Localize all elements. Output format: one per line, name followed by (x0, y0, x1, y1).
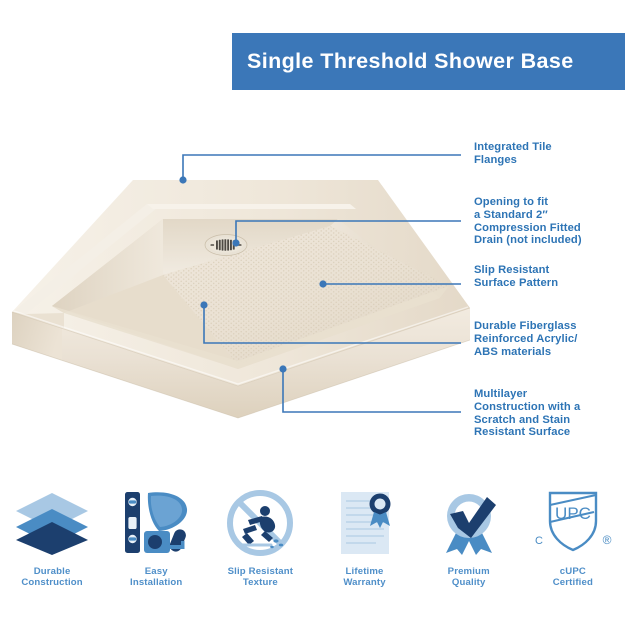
check-rosette-icon (426, 487, 512, 559)
product-image (0, 150, 470, 420)
feature-label-premium-quality: Premium Quality (448, 566, 490, 589)
stacked-layers-icon (9, 487, 95, 559)
upc-left-mark: C (535, 535, 543, 547)
feature-label-durable-construction: Durable Construction (21, 566, 83, 589)
feature-lifetime-warranty: Lifetime Warranty (315, 487, 415, 589)
callout-integrated-tile-flanges: Integrated Tile Flanges (474, 141, 552, 167)
level-trowel-tape-icon (113, 487, 199, 559)
upc-shield-text: UPC (555, 504, 591, 523)
page-title: Single Threshold Shower Base (232, 49, 574, 74)
feature-label-easy-installation: Easy Installation (130, 566, 182, 589)
feature-badges-row: Durable Construction (0, 487, 625, 602)
upc-shield-icon: UPC C ® (530, 487, 616, 559)
feature-label-cupc-certified: cUPC Certified (553, 566, 593, 589)
certificate-ribbon-icon (322, 487, 408, 559)
callout-slip-resistant-surface: Slip Resistant Surface Pattern (474, 264, 558, 290)
callout-multilayer-construction: Multilayer Construction with a Scratch a… (474, 388, 580, 439)
feature-label-lifetime-warranty: Lifetime Warranty (343, 566, 385, 589)
shower-base-illustration (0, 150, 470, 420)
feature-label-slip-resistant-texture: Slip Resistant Texture (228, 566, 294, 589)
oval-drain-grate (205, 235, 247, 256)
callout-drain-opening: Opening to fit a Standard 2″ Compression… (474, 196, 582, 247)
feature-cupc-certified: UPC C ® cUPC Certified (523, 487, 623, 589)
threshold-ridge-back (147, 204, 356, 209)
callout-durable-materials: Durable Fiberglass Reinforced Acrylic/ A… (474, 320, 577, 358)
no-slip-icon (217, 487, 303, 559)
feature-easy-installation: Easy Installation (106, 487, 206, 589)
feature-durable-construction: Durable Construction (2, 487, 102, 589)
upc-right-mark: ® (602, 533, 611, 547)
feature-slip-resistant-texture: Slip Resistant Texture (210, 487, 310, 589)
title-banner: Single Threshold Shower Base (232, 33, 625, 90)
feature-premium-quality: Premium Quality (419, 487, 519, 589)
infographic-canvas: Single Threshold Shower Base (0, 0, 625, 625)
